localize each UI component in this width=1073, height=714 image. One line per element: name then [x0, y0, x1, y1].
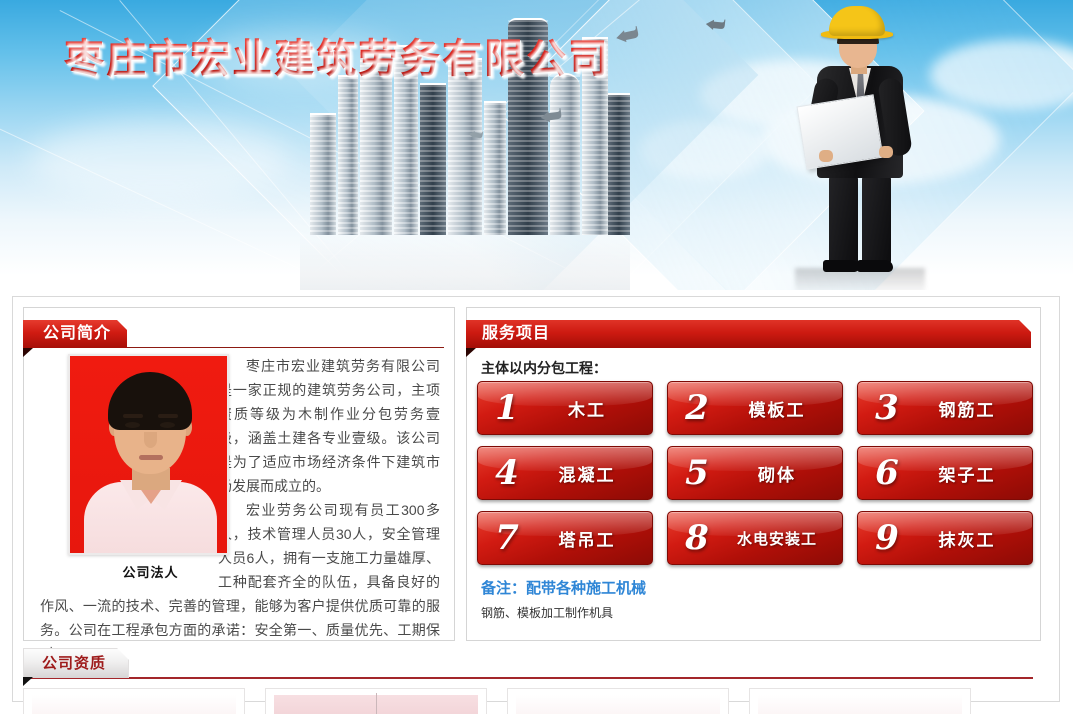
ribbon-shadow-notch	[23, 348, 33, 357]
service-label: 塔吊工	[536, 526, 652, 551]
service-button-2[interactable]: 2 模板工	[667, 381, 843, 435]
service-number: 7	[478, 521, 536, 555]
hard-hat-icon	[829, 6, 885, 36]
service-button-5[interactable]: 5 砌体	[667, 446, 843, 500]
company-profile-panel: 公司简介 枣庄市宏业建筑劳务有限公司是一家正规的建筑劳务公司，主项资质等级为木制…	[23, 307, 455, 641]
service-label: 架子工	[916, 461, 1032, 486]
bird-icon: ⮨	[538, 104, 563, 131]
qualification-rule	[23, 677, 1033, 679]
qualification-thumb[interactable]	[507, 688, 729, 714]
qualification-thumbnails	[23, 688, 1049, 714]
legal-person-photo-wrap: 公司法人	[68, 354, 233, 559]
service-button-1[interactable]: 1 木工	[477, 381, 653, 435]
qualification-thumb[interactable]	[265, 688, 487, 714]
service-number: 9	[858, 521, 916, 555]
businessman-illustration	[795, 4, 925, 286]
qualification-heading[interactable]: 公司资质	[23, 648, 129, 678]
service-button-8[interactable]: 8 水电安装工	[667, 511, 843, 565]
qualification-thumb[interactable]	[749, 688, 971, 714]
legal-person-caption: 公司法人	[68, 562, 233, 581]
service-button-grid: 1 木工 2 模板工 3 钢筋工 4 混凝工	[477, 381, 1033, 576]
service-button-6[interactable]: 6 架子工	[857, 446, 1033, 500]
service-number: 8	[668, 521, 726, 555]
qualification-shadow-notch	[23, 677, 33, 686]
service-number: 4	[478, 456, 536, 490]
service-items-heading[interactable]: 服务项目	[466, 320, 1031, 348]
service-number: 2	[668, 391, 726, 425]
service-label: 模板工	[726, 396, 842, 421]
shoe-icon	[823, 260, 859, 272]
bird-icon: ⮨	[467, 127, 484, 145]
shoe-icon	[857, 260, 893, 272]
subcontract-label: 主体以内分包工程：	[481, 358, 607, 378]
service-button-7[interactable]: 7 塔吊工	[477, 511, 653, 565]
service-button-4[interactable]: 4 混凝工	[477, 446, 653, 500]
company-title: 枣庄市宏业建筑劳务有限公司	[64, 26, 610, 84]
service-items-panel: 服务项目 主体以内分包工程： 1 木工 2 模板工 3 钢筋工	[466, 307, 1041, 641]
legal-person-photo[interactable]	[68, 354, 229, 555]
service-button-9[interactable]: 9 抹灰工	[857, 511, 1033, 565]
bird-icon: ⮨	[704, 13, 727, 37]
service-label: 钢筋工	[916, 396, 1032, 421]
hand-right	[879, 146, 893, 158]
qualification-section: 公司资质	[23, 648, 1049, 693]
service-number: 6	[858, 456, 916, 490]
company-profile-heading[interactable]: 公司简介	[23, 320, 127, 348]
blueprint-icon	[796, 94, 883, 169]
hand-left	[819, 150, 833, 162]
service-label: 木工	[536, 396, 652, 421]
service-label: 水电安装工	[726, 528, 842, 549]
service-label: 砌体	[726, 461, 842, 486]
legs	[827, 174, 893, 270]
service-number: 5	[668, 456, 726, 490]
qualification-thumb[interactable]	[23, 688, 245, 714]
site-banner: ⮨ ⮨ ⮨ ⮨ 枣庄市宏业建筑劳务有限公司	[0, 0, 1073, 290]
page-root: ⮨ ⮨ ⮨ ⮨ 枣庄市宏业建筑劳务有限公司	[0, 0, 1073, 714]
service-label: 抹灰工	[916, 526, 1032, 551]
main-container: 公司简介 枣庄市宏业建筑劳务有限公司是一家正规的建筑劳务公司，主项资质等级为木制…	[12, 296, 1060, 702]
bird-icon: ⮨	[613, 20, 642, 50]
skyline-reflection	[300, 235, 630, 290]
service-note-detail: 钢筋、模板加工制作机具	[481, 604, 613, 621]
service-row-2: 4 混凝工 5 砌体 6 架子工	[477, 446, 1033, 500]
service-note-highlight: 备注：配带各种施工机械	[481, 577, 646, 598]
headbar-shadow-notch	[466, 348, 476, 357]
service-button-3[interactable]: 3 钢筋工	[857, 381, 1033, 435]
service-row-3: 7 塔吊工 8 水电安装工 9 抹灰工	[477, 511, 1033, 565]
service-label: 混凝工	[536, 461, 652, 486]
service-number: 3	[858, 391, 916, 425]
service-row-1: 1 木工 2 模板工 3 钢筋工	[477, 381, 1033, 435]
service-number: 1	[478, 391, 536, 425]
